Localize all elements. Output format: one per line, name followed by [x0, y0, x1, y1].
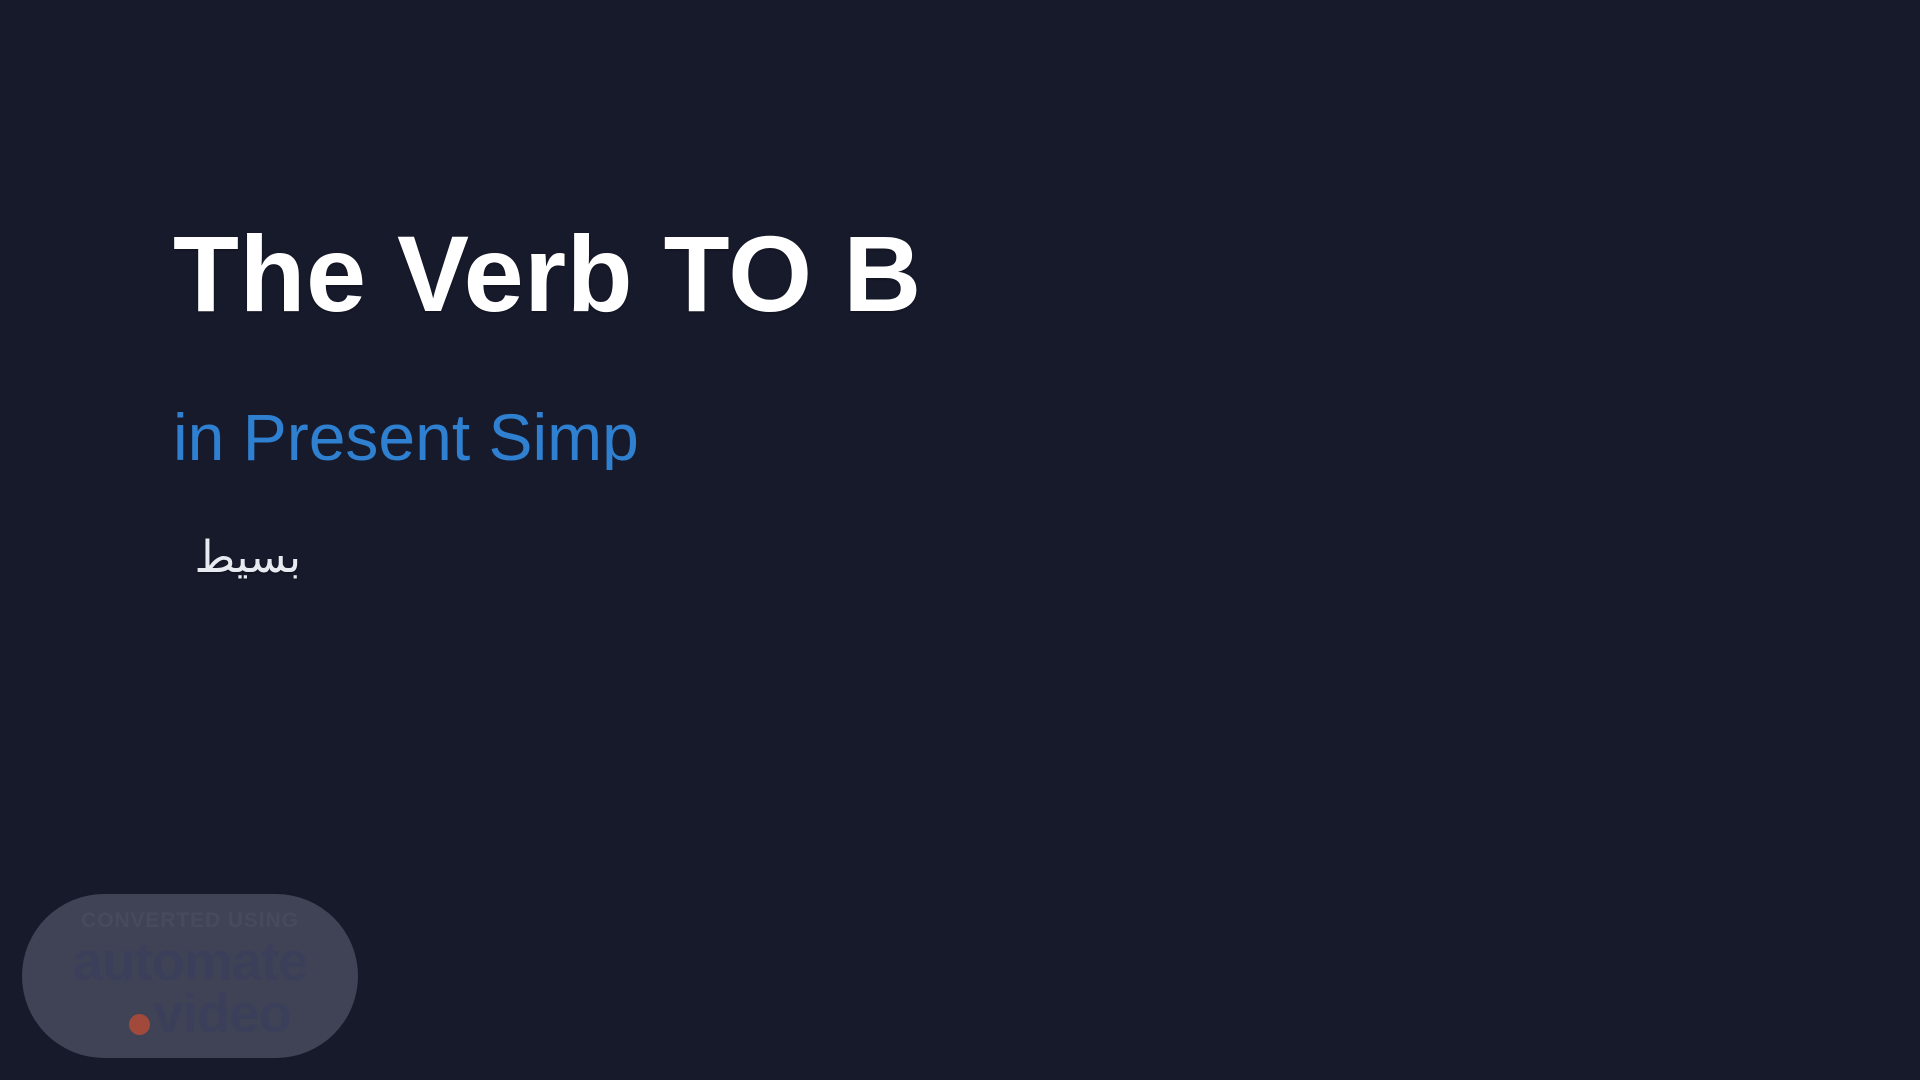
watermark-badge[interactable]: CONVERTED USING automate video	[22, 894, 358, 1058]
watermark-domain-row: video	[89, 987, 291, 1041]
slide-title: The Verb TO B	[173, 220, 1103, 328]
slide-canvas: The Verb TO B in Present Simp بسيط CONVE…	[0, 0, 1920, 1080]
watermark-eyebrow-label: CONVERTED USING	[81, 910, 299, 931]
dot-icon	[129, 1014, 150, 1035]
watermark-domain-label: video	[153, 987, 291, 1041]
slide-text-block: The Verb TO B in Present Simp بسيط	[173, 220, 1673, 580]
slide-subtitle: in Present Simp	[173, 328, 713, 470]
slide-translation-text: بسيط	[173, 470, 301, 580]
watermark-wordmark-label: automate	[73, 935, 308, 989]
